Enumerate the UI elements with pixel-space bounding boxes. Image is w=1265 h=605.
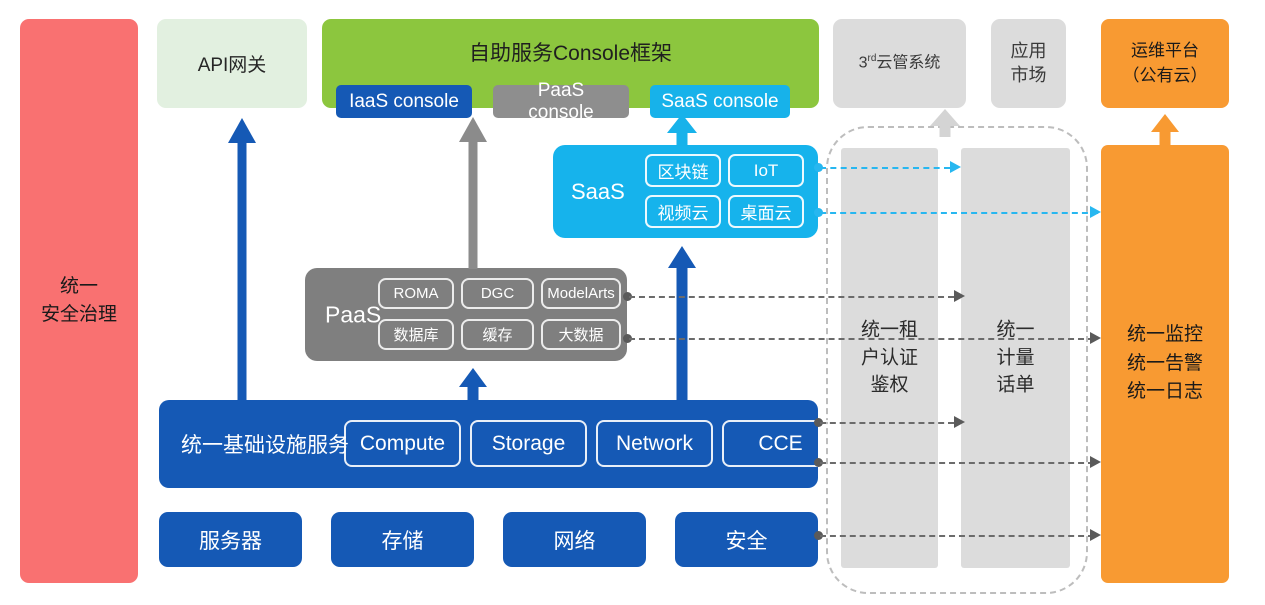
hardware-server-box[interactable]: 服务器 [159, 512, 302, 567]
hardware-storage-box[interactable]: 存储 [331, 512, 474, 567]
governance-line-1: 统一 [41, 273, 117, 301]
paas-tag-modelarts[interactable]: ModelArts [541, 278, 621, 309]
unified-security-governance-panel: 统一 安全治理 [20, 19, 138, 583]
paas-console-pill[interactable]: PaaS console [493, 85, 629, 118]
paas-tag-dgc[interactable]: DGC [461, 278, 534, 309]
arrow-paas-to-console [459, 117, 487, 269]
paas-tag-bigdata[interactable]: 大数据 [541, 319, 621, 350]
saas-block: SaaS 区块链 IoT 视频云 桌面云 [553, 145, 818, 238]
billing-line-1: 统一 [961, 317, 1070, 345]
iaas-tag-storage[interactable]: Storage [470, 420, 587, 467]
auth-line-3: 鉴权 [841, 372, 938, 400]
third-party-cloud-management-box[interactable]: 3rd云管系统 [833, 19, 966, 108]
saas-tag-iot[interactable]: IoT [728, 154, 804, 187]
app-market-line-1: 应用 [1011, 40, 1047, 63]
arrowhead-paas-to-auth [954, 290, 965, 302]
billing-line-3: 话单 [961, 372, 1070, 400]
auth-column-text: 统一租 户认证 鉴权 [841, 317, 938, 400]
iaas-tag-compute[interactable]: Compute [344, 420, 461, 467]
connector-hardware-to-ops [820, 535, 1094, 537]
arrow-iaas-to-saas [668, 246, 696, 401]
paas-tag-database[interactable]: 数据库 [378, 319, 454, 350]
billing-column-text: 统一 计量 话单 [961, 317, 1070, 400]
connector-paas-to-auth [629, 296, 954, 298]
iaas-block-label: 统一基础设施服务 [181, 429, 349, 459]
paas-tag-cache[interactable]: 缓存 [461, 319, 534, 350]
arrow-iaas-to-paas [459, 368, 487, 402]
unified-infrastructure-block: 统一基础设施服务 Compute Storage Network CCE [159, 400, 818, 488]
ops-col-line-2: 统一告警 [1127, 350, 1203, 379]
arrowhead-saas-to-ops [1090, 206, 1101, 218]
billing-line-2: 计量 [961, 344, 1070, 372]
arrow-ops-column-to-ops-platform [1151, 114, 1179, 145]
api-gateway-label: API网关 [198, 50, 267, 77]
auth-line-1: 统一租 [841, 317, 938, 345]
api-gateway-box[interactable]: API网关 [157, 19, 307, 108]
paas-block-label: PaaS [325, 301, 381, 328]
arrowhead-iaas-to-auth [954, 416, 965, 428]
unified-metering-billing-column: 统一 计量 话单 [961, 148, 1070, 568]
arrow-saas-to-console [668, 114, 696, 146]
arrowhead-paas-to-ops [1090, 332, 1101, 344]
app-market-box[interactable]: 应用 市场 [991, 19, 1066, 108]
hardware-network-box[interactable]: 网络 [503, 512, 646, 567]
self-service-console-framework: 自助服务Console框架 IaaS console PaaS console … [322, 19, 819, 108]
saas-block-label: SaaS [571, 179, 625, 205]
connector-saas-to-ops [820, 212, 1098, 214]
arrow-iaas-to-api-gateway [228, 118, 256, 401]
console-framework-title: 自助服务Console框架 [322, 37, 819, 67]
unified-tenant-auth-column: 统一租 户认证 鉴权 [841, 148, 938, 568]
ops-platform-line-1: 运维平台 [1123, 39, 1208, 64]
third-party-label: 3rd云管系统 [859, 53, 941, 74]
ops-monitoring-column: 统一监控 统一告警 统一日志 [1101, 145, 1229, 583]
saas-console-label: SaaS console [661, 91, 778, 113]
ops-platform-line-2: （公有云） [1123, 64, 1208, 89]
saas-tag-desktop-cloud[interactable]: 桌面云 [728, 195, 804, 228]
paas-tag-roma[interactable]: ROMA [378, 278, 454, 309]
governance-line-2: 安全治理 [41, 301, 117, 329]
arrowhead-iaas-to-ops [1090, 456, 1101, 468]
auth-line-2: 户认证 [841, 344, 938, 372]
saas-tag-video-cloud[interactable]: 视频云 [645, 195, 721, 228]
hardware-security-box[interactable]: 安全 [675, 512, 818, 567]
ops-col-line-1: 统一监控 [1127, 321, 1203, 350]
ops-col-line-3: 统一日志 [1127, 378, 1203, 407]
connector-iaas-to-auth [820, 422, 954, 424]
arrow-shared-to-third-party [931, 109, 959, 137]
arrowhead-hardware-to-ops [1090, 529, 1101, 541]
iaas-console-label: IaaS console [349, 91, 459, 113]
paas-console-label: PaaS console [503, 80, 619, 124]
app-market-line-2: 市场 [1011, 64, 1047, 87]
connector-saas-to-auth [820, 167, 950, 169]
connector-paas-to-ops [629, 338, 1094, 340]
architecture-diagram: 统一 安全治理 API网关 自助服务Console框架 IaaS console… [0, 0, 1265, 605]
connector-iaas-to-ops [820, 462, 1094, 464]
ops-platform-public-cloud-box[interactable]: 运维平台 （公有云） [1101, 19, 1229, 108]
paas-block: PaaS ROMA DGC ModelArts 数据库 缓存 大数据 [305, 268, 627, 361]
arrowhead-saas-to-auth [950, 161, 961, 173]
iaas-console-pill[interactable]: IaaS console [336, 85, 472, 118]
iaas-tag-network[interactable]: Network [596, 420, 713, 467]
saas-tag-blockchain[interactable]: 区块链 [645, 154, 721, 187]
